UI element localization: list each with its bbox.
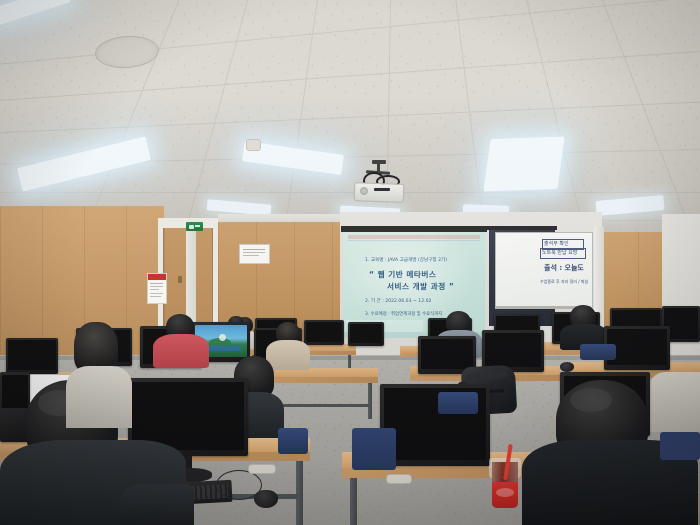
emergency-notice-poster [147,273,167,304]
ceiling-light [483,137,564,192]
mouse-cable [216,470,262,500]
classroom-chair[interactable] [278,428,308,454]
whiteboard-front: 출석부 확인 노트북 반납 요망 출석 : 오늘도 수업종료 후 자리 정리 /… [495,232,593,308]
slide-line-4: 3. 수료예정 : 취업연계과정 및 수료식까지 [365,311,442,317]
cup-sleeve [492,482,518,508]
person-body [153,334,209,368]
desk-leg [296,461,303,525]
classroom-photo: 1. 교육명 : JAVA 고급개발 (강남구청 2기) “ 웹 기반 메타버스… [0,0,700,525]
room-information-sign [239,244,270,264]
person-arm [120,484,194,525]
slide-title-line-2: 서비스 개발 과정 ” [387,281,454,292]
exit-sign-icon [186,222,203,231]
ceiling-tile-grid [0,0,700,232]
desk-edge [258,377,378,383]
ceiling-projector [352,160,404,204]
desktop-monitor [0,408,28,442]
person-body [266,340,310,370]
secondary-display-frame [487,226,557,230]
person-body [648,372,700,432]
smoke-detector-icon [246,139,261,151]
slide-top-band [348,235,480,239]
desk-grommet [386,474,412,484]
whiteboard-subnote: 수업종료 후 자리 정리 / 퇴실 [540,279,588,285]
iced-coffee-cup[interactable] [489,452,521,514]
slide-line-3: 2. 기 간 : 2022.06.03 ~ 12.02 [365,298,431,304]
classroom-chair[interactable] [660,432,700,460]
front-wall-trim [218,214,340,222]
desktop-monitor [348,322,384,346]
desk-leg [350,478,357,525]
desk-grommet [248,464,276,474]
ceiling [0,0,700,232]
slide-title-line-1: “ 웹 기반 메타버스 [369,269,436,280]
classroom-chair[interactable] [438,392,478,414]
desktop-monitor [6,338,58,374]
whiteboard-box-text-1: 출석부 확인 [544,240,569,247]
classroom-chair[interactable] [580,344,616,360]
door-handle-icon[interactable] [178,276,182,283]
computer-mouse[interactable] [560,362,574,372]
whiteboard-heading: 출석 : 오늘도 [544,263,584,273]
desktop-monitor [304,320,344,345]
slide-line-1: 1. 교육명 : JAVA 고급개발 (강남구청 2기) [365,257,447,263]
person-body [66,366,132,428]
desk-leg [368,383,372,419]
classroom-chair[interactable] [352,428,396,470]
whiteboard-box-text-2: 노트북 반납 요망 [542,249,577,256]
